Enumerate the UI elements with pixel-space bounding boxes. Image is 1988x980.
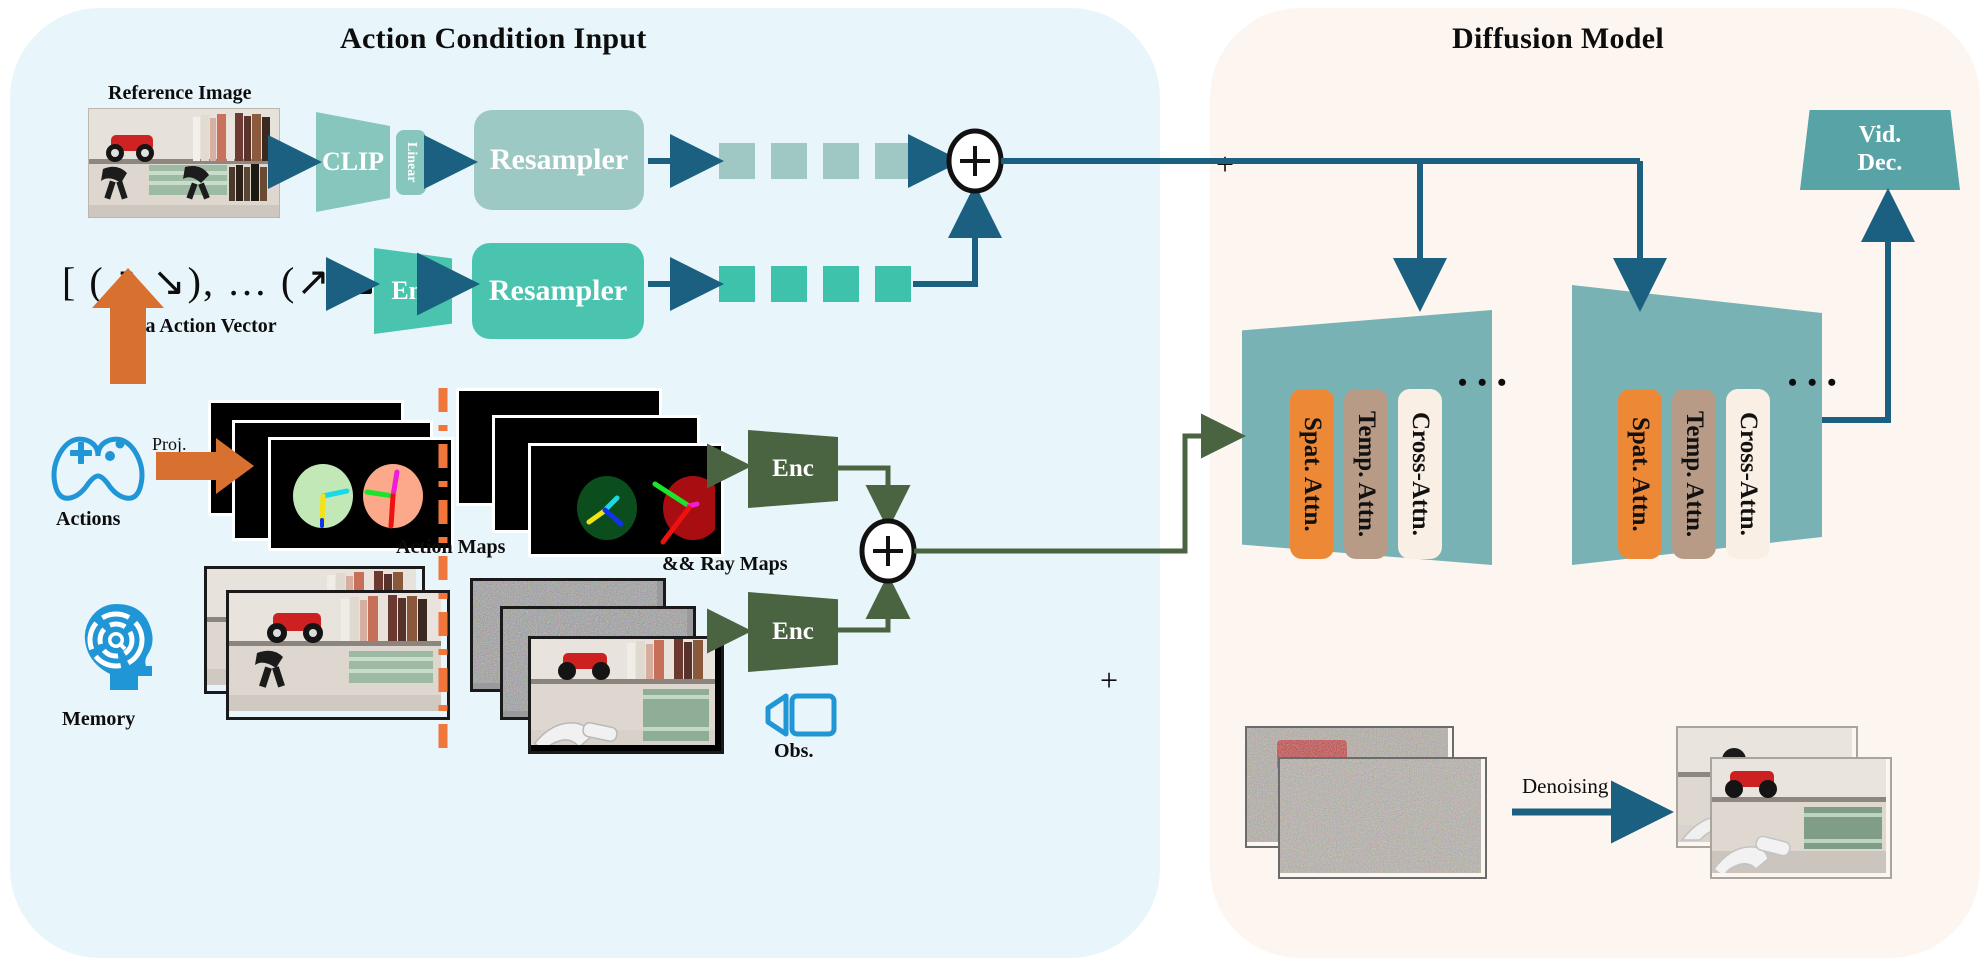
action-maps-label: Action Maps [396, 536, 505, 559]
denoising-label: Denoising [1522, 774, 1608, 799]
reference-image-label: Reference Image [108, 82, 251, 105]
clean-video-frame-front [1710, 757, 1892, 879]
linear-block: Linear [396, 130, 426, 195]
ray-map-front [528, 443, 724, 557]
proj-label: Proj. [152, 434, 187, 455]
delta-action-vector-expression: [ (↗,↘), … (↗,↘) ] [62, 258, 422, 305]
unet-up-cross-attn-label: Cross-Attn. [1734, 412, 1762, 536]
resampler-action-block: Resampler [472, 243, 644, 339]
gamepad-icon [48, 432, 148, 502]
action-map-front [268, 437, 454, 551]
memory-label: Memory [62, 708, 135, 731]
ray-maps-label: && Ray Maps [662, 553, 788, 576]
unet-down-spat-attn-label: Spat. Attn. [1298, 417, 1326, 532]
unet-down-spat-attn[interactable]: Spat. Attn. [1290, 389, 1334, 559]
merge-plus-left-label: + [1100, 662, 1118, 699]
unet-down-ellipsis: • • • [1458, 368, 1508, 398]
image-token-1 [719, 143, 755, 179]
delta-action-vector-label: Delta Action Vector [110, 315, 277, 338]
enc-obs-block: Enc [748, 592, 838, 672]
unet-up-temp-attn[interactable]: Temp. Attn. [1672, 389, 1716, 559]
obs-label: Obs. [774, 740, 813, 763]
action-token-3 [823, 266, 859, 302]
resampler-image-label: Resampler [490, 143, 628, 177]
enc-action-label: Enc [391, 276, 434, 306]
unet-up-temp-attn-label: Temp. Attn. [1680, 411, 1708, 537]
unet-down-cross-attn-label: Cross-Attn. [1406, 412, 1434, 536]
unet-up-spat-attn[interactable]: Spat. Attn. [1618, 389, 1662, 559]
unet-up-cross-attn[interactable]: Cross-Attn. [1726, 389, 1770, 559]
resampler-image-block: Resampler [474, 110, 644, 210]
merge-plus-right-label: + [1216, 146, 1234, 183]
reference-image-thumbnail [88, 108, 280, 218]
clip-label: CLIP [322, 147, 384, 177]
enc-raymap-label: Enc [772, 455, 814, 483]
linear-label: Linear [403, 142, 419, 182]
unet-down-temp-attn[interactable]: Temp. Attn. [1344, 389, 1388, 559]
video-decoder-line1: Vid. [1859, 122, 1901, 150]
video-decoder-line2: Dec. [1858, 150, 1903, 178]
action-token-2 [771, 266, 807, 302]
memory-head-icon [72, 600, 162, 700]
actions-label: Actions [56, 508, 120, 531]
unet-up-ellipsis: • • • [1788, 368, 1838, 398]
right-panel-title: Diffusion Model [1452, 22, 1664, 56]
enc-raymap-block: Enc [748, 430, 838, 508]
obs-frame-front [528, 636, 724, 754]
memory-frame-front [226, 590, 450, 720]
enc-obs-label: Enc [772, 618, 814, 646]
action-token-1 [719, 266, 755, 302]
video-decoder-block: Vid. Dec. [1800, 110, 1960, 190]
resampler-action-label: Resampler [489, 274, 627, 308]
image-token-2 [771, 143, 807, 179]
image-token-4 [875, 143, 911, 179]
left-panel-title: Action Condition Input [340, 22, 647, 56]
unet-down-cross-attn[interactable]: Cross-Attn. [1398, 389, 1442, 559]
enc-action-block: Enc [374, 248, 452, 334]
unet-up-spat-attn-label: Spat. Attn. [1626, 417, 1654, 532]
noisy-video-frame-front [1278, 757, 1487, 879]
clip-encoder-block: CLIP [316, 112, 390, 212]
camera-icon [762, 690, 842, 740]
unet-down-temp-attn-label: Temp. Attn. [1352, 411, 1380, 537]
delta-arrow-label: Delta [128, 340, 148, 377]
action-token-4 [875, 266, 911, 302]
image-token-3 [823, 143, 859, 179]
